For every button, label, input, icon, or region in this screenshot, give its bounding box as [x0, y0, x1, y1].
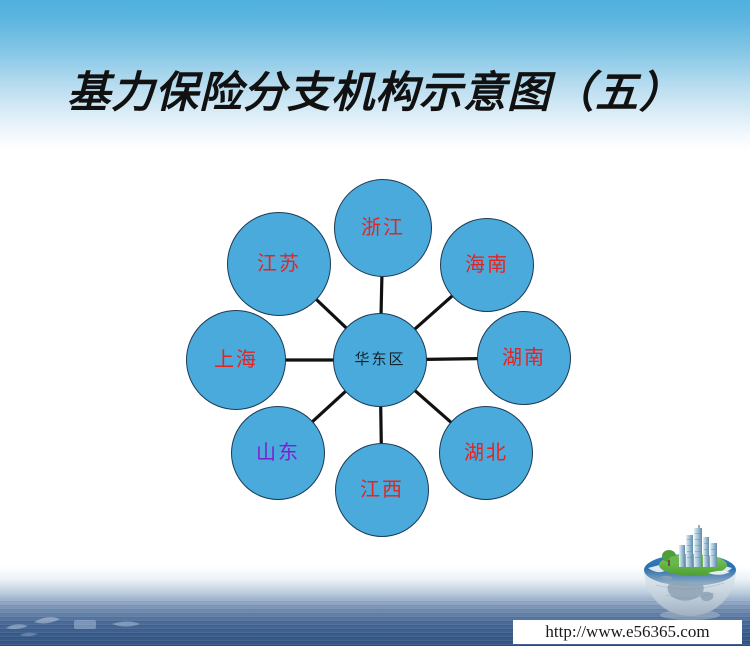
- connector-line-江苏: [316, 299, 347, 328]
- connector-line-江西: [381, 406, 382, 444]
- diagram-node-浙江[interactable]: 浙江: [334, 179, 432, 277]
- diagram-node-山东[interactable]: 山东: [231, 406, 325, 500]
- connector-line-山东: [312, 391, 346, 422]
- diagram-node-湖南[interactable]: 湖南: [477, 311, 571, 405]
- slide-canvas: 基力保险分支机构示意图（五） 华东区浙江海南湖南湖北江西山东上海江苏: [0, 0, 750, 646]
- diagram-node-湖北[interactable]: 湖北: [439, 406, 533, 500]
- connector-line-海南: [414, 296, 452, 330]
- connector-line-湖北: [415, 390, 452, 422]
- watermark-url: http://www.e56365.com: [513, 620, 742, 644]
- diagram-node-江苏[interactable]: 江苏: [227, 212, 331, 316]
- connector-line-湖南: [426, 359, 478, 360]
- sea-reflection-glints: [0, 602, 280, 642]
- diagram-node-hub-华东区[interactable]: 华东区: [333, 313, 427, 407]
- connector-line-浙江: [381, 276, 382, 314]
- diagram-node-江西[interactable]: 江西: [335, 443, 429, 537]
- earth-city-globe-logo: [638, 523, 742, 623]
- diagram-node-上海[interactable]: 上海: [186, 310, 286, 410]
- diagram-node-海南[interactable]: 海南: [440, 218, 534, 312]
